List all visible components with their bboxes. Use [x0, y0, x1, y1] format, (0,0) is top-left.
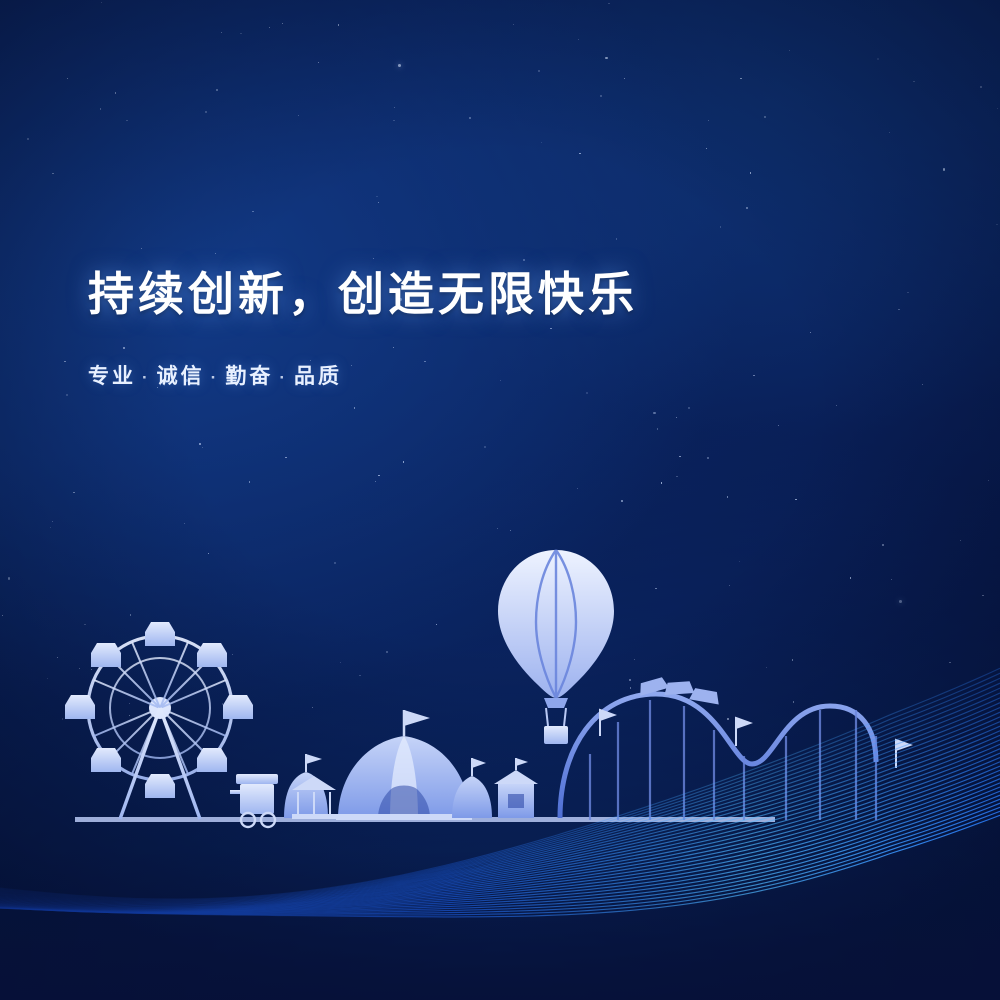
keyword-2: 诚信: [157, 365, 205, 388]
neon-wave-mesh: [0, 640, 1000, 1000]
copy-block: 持续创新，创造无限快乐 专业·诚信·勤奋·品质: [88, 258, 638, 390]
promo-banner: 持续创新，创造无限快乐 专业·诚信·勤奋·品质: [0, 0, 1000, 1000]
page-title: 持续创新，创造无限快乐: [88, 258, 638, 324]
keyword-separator: ·: [136, 368, 157, 387]
keyword-4: 品质: [294, 365, 342, 388]
keyword-separator: ·: [273, 368, 294, 387]
keyword-1: 专业: [88, 365, 136, 388]
keyword-separator: ·: [205, 368, 226, 387]
value-keywords: 专业·诚信·勤奋·品质: [88, 324, 638, 390]
keyword-3: 勤奋: [225, 365, 273, 388]
